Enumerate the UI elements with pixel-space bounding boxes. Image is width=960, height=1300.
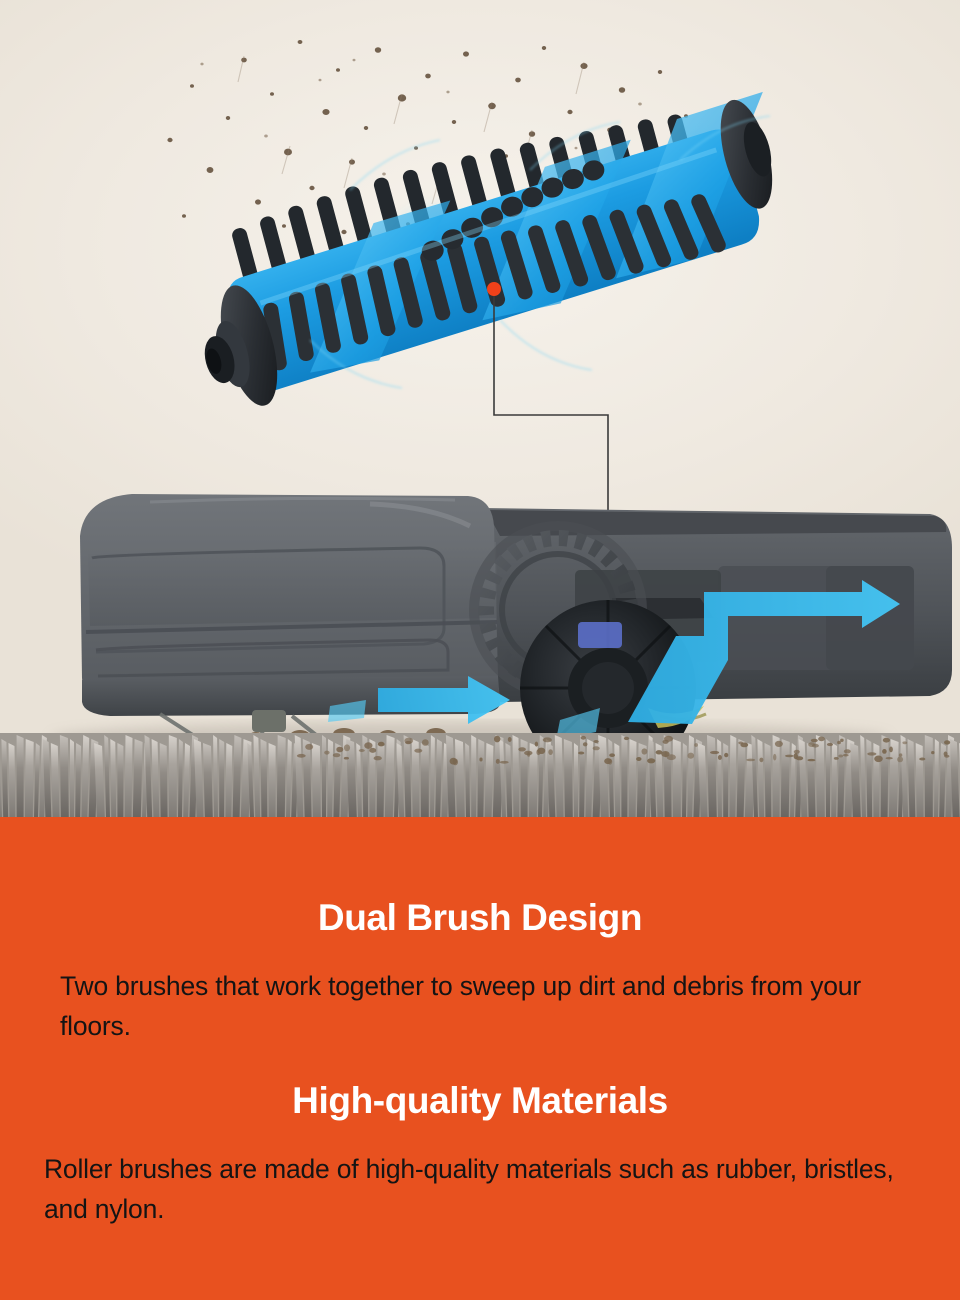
carpet-floor	[0, 733, 960, 817]
feature-heading-dual-brush: Dual Brush Design	[0, 898, 960, 939]
airflow-arrows	[0, 470, 960, 770]
product-feature-card: Dual Brush Design Two brushes that work …	[0, 0, 960, 1300]
hero-illustration	[0, 0, 960, 817]
airflow-arrow-right	[628, 580, 900, 724]
feature-body-dual-brush: Two brushes that work together to sweep …	[60, 966, 922, 1046]
feature-body-high-quality: Roller brushes are made of high-quality …	[44, 1149, 934, 1229]
feature-text-panel: Dual Brush Design Two brushes that work …	[0, 817, 960, 1300]
airflow-arrow-left	[378, 676, 510, 724]
roller-brush	[140, 70, 860, 450]
feature-heading-high-quality: High-quality Materials	[0, 1081, 960, 1122]
